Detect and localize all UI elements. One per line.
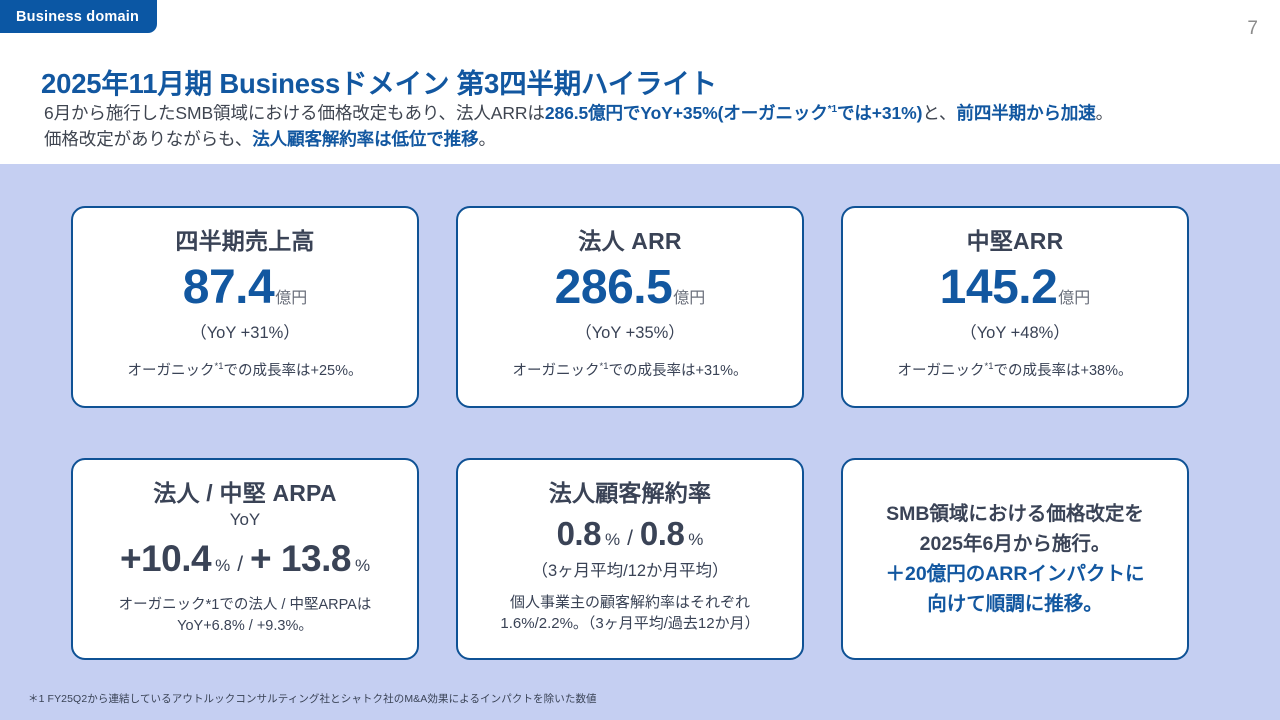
lead-highlight-1-tail: では+31%) (837, 103, 922, 123)
slide-root: Business domain 7 2025年11月期 Businessドメイン… (0, 0, 1280, 720)
lead-text-4: 価格改定がありながらも、 (44, 129, 252, 149)
churn-value-12month: 0.8 (640, 514, 684, 554)
metric-value-row: 145.2 億円 (940, 260, 1091, 316)
domain-badge: Business domain (0, 0, 157, 33)
arpa-note-line2: YoY+6.8% / +9.3%。 (177, 618, 313, 634)
domain-badge-label: Business domain (16, 9, 139, 25)
lead-highlight-1: 286.5億円でYoY+35%(オーガニック (545, 103, 828, 123)
metric-organic-note: オーガニック*1での成長率は+25%。 (128, 356, 363, 382)
metric-organic-post: での成長率は+38%。 (993, 363, 1132, 379)
arpa-value-corporate: +10.4 (120, 537, 211, 581)
metric-value-row: 286.5 億円 (555, 260, 706, 316)
metric-organic-pre: オーガニック (898, 363, 985, 379)
metric-organic-pre: オーガニック (513, 363, 600, 379)
card-corporate-arr: 法人 ARR 286.5 億円 （YoY +35%） オーガニック*1での成長率… (456, 206, 804, 408)
lead-text-5: 。 (478, 129, 495, 149)
churn-period-note: （3ヶ月平均/12か月平均） (531, 560, 728, 582)
card-title: 中堅ARR (967, 226, 1064, 256)
metric-organic-post: での成長率は+25%。 (223, 363, 362, 379)
card-title: 法人顧客解約率 (549, 478, 711, 508)
churn-value-row: 0.8 % / 0.8 % (557, 514, 704, 554)
card-pricing-statement: SMB領域における価格改定を 2025年6月から施行。 ＋20億円のARRインパ… (841, 458, 1189, 660)
metric-organic-pre: オーガニック (128, 363, 215, 379)
metric-yoy-note: （YoY +35%） (575, 322, 685, 344)
metric-card-grid: 四半期売上高 87.4 億円 （YoY +31%） オーガニック*1での成長率は… (71, 206, 1217, 660)
arpa-note-pre: オーガニック (119, 597, 206, 613)
slide-footnote: ＊1 FY25Q2から連結しているアウトルックコンサルティング社とシャトク社のM… (28, 691, 597, 706)
metric-organic-note: オーガニック*1での成長率は+31%。 (513, 356, 748, 382)
metric-value: 145.2 (940, 260, 1058, 316)
metric-value: 286.5 (555, 260, 673, 316)
statement-line-4: 向けて順調に推移。 (927, 593, 1103, 615)
card-midmarket-arr: 中堅ARR 145.2 億円 （YoY +48%） オーガニック*1での成長率は… (841, 206, 1189, 408)
lead-text-2: と、 (922, 103, 956, 123)
lead-highlight-3: 法人顧客解約率は低位で推移 (252, 129, 478, 149)
statement-line-3: ＋20億円のARRインパクトに (886, 563, 1145, 585)
arpa-separator: / (237, 551, 243, 579)
lead-text-1: 6月から施行したSMB領域における価格改定もあり、法人ARRは (44, 103, 545, 123)
lead-highlight-1-sup: *1 (828, 104, 837, 115)
metric-unit: 億円 (1058, 289, 1090, 309)
card-title: 法人 / 中堅 ARPA (153, 478, 336, 508)
metric-yoy-note: （YoY +31%） (190, 322, 300, 344)
card-churn-rate: 法人顧客解約率 0.8 % / 0.8 % （3ヶ月平均/12か月平均） 個人事… (456, 458, 804, 660)
churn-pct-3month: % (605, 528, 620, 552)
metric-value-row: 87.4 億円 (183, 260, 307, 316)
card-title: 四半期売上高 (175, 226, 314, 256)
churn-detail-line1: 個人事業主の顧客解約率はそれぞれ (510, 594, 750, 611)
lead-line-1: 6月から施行したSMB領域における価格改定もあり、法人ARRは286.5億円でY… (44, 103, 1113, 123)
churn-pct-12month: % (688, 528, 703, 552)
arpa-value-row: +10.4 % / + 13.8 % (120, 537, 370, 581)
statement-line-2: 2025年6月から施行。 (920, 533, 1111, 555)
page-title: 2025年11月期 Businessドメイン 第3四半期ハイライト (41, 61, 717, 101)
card-arpa: 法人 / 中堅 ARPA YoY +10.4 % / + 13.8 % オーガニ… (71, 458, 419, 660)
arpa-pct-midmarket: % (355, 554, 370, 578)
lead-paragraph: 6月から施行したSMB領域における価格改定もあり、法人ARRは286.5億円でY… (44, 97, 1244, 152)
churn-detail-note: 個人事業主の顧客解約率はそれぞれ 1.6%/2.2%。（3ヶ月平均/過去12か月… (500, 592, 759, 634)
metric-organic-note: オーガニック*1での成長率は+38%。 (898, 356, 1133, 382)
page-number: 7 (1247, 18, 1258, 40)
metric-yoy-note: （YoY +48%） (960, 322, 1070, 344)
churn-value-3month: 0.8 (557, 514, 601, 554)
arpa-organic-note: オーガニック*1での法人 / 中堅ARPAは YoY+6.8% / +9.3%。 (119, 595, 372, 637)
statement-line-1: SMB領域における価格改定を (886, 503, 1144, 525)
arpa-note-sup: *1 (206, 597, 220, 613)
arpa-value-midmarket: + 13.8 (250, 537, 351, 581)
arpa-pct-corporate: % (215, 554, 230, 578)
metric-unit: 億円 (275, 289, 307, 309)
lead-text-3: 。 (1096, 103, 1113, 123)
lead-line-2: 価格改定がありながらも、法人顧客解約率は低位で推移。 (44, 129, 496, 149)
card-subtitle-yoy: YoY (230, 509, 261, 531)
metric-value: 87.4 (183, 260, 274, 316)
card-title: 法人 ARR (578, 226, 681, 256)
statement-text: SMB領域における価格改定を 2025年6月から施行。 ＋20億円のARRインパ… (886, 499, 1145, 619)
metric-unit: 億円 (673, 289, 705, 309)
arpa-note-post: での法人 / 中堅ARPAは (219, 597, 371, 613)
card-quarterly-revenue: 四半期売上高 87.4 億円 （YoY +31%） オーガニック*1での成長率は… (71, 206, 419, 408)
metric-organic-post: での成長率は+31%。 (608, 363, 747, 379)
lead-highlight-2: 前四半期から加速 (956, 103, 1095, 123)
churn-detail-line2: 1.6%/2.2%。（3ヶ月平均/過去12か月） (500, 615, 759, 632)
churn-separator: / (627, 525, 633, 553)
